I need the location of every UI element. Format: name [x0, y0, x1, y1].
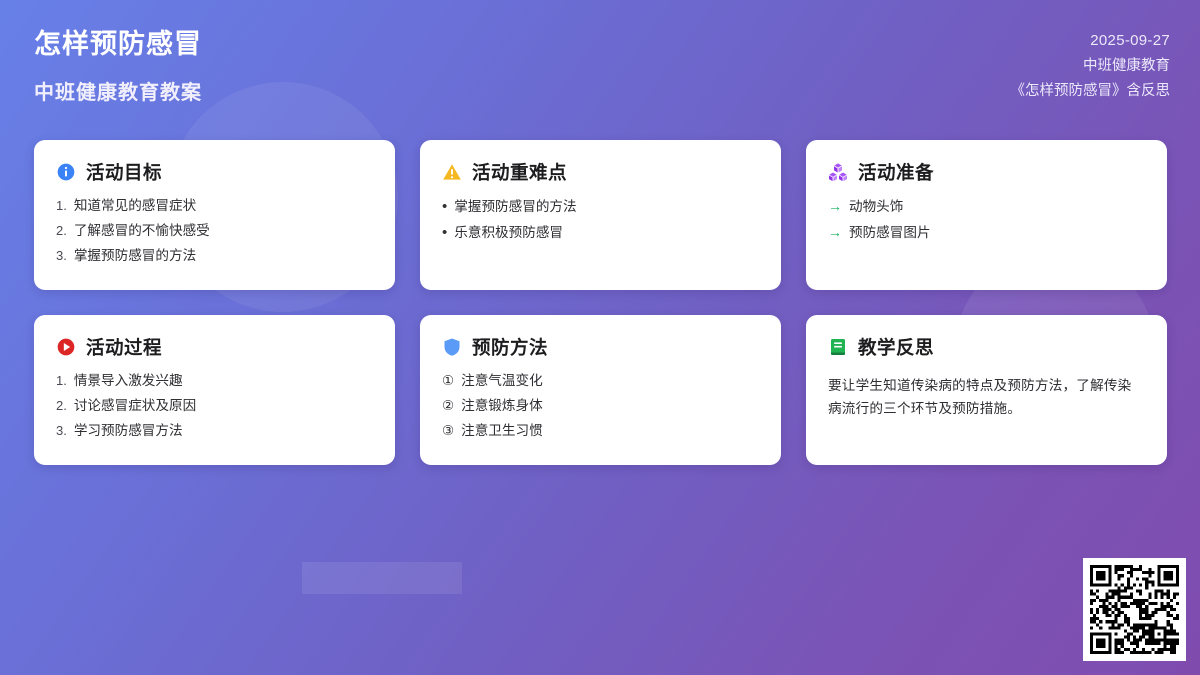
list-item-label: 掌握预防感冒的方法	[454, 200, 576, 215]
card-list: 1.知道常见的感冒症状2.了解感冒的不愉快感受3.掌握预防感冒的方法	[56, 199, 373, 264]
page-header: 怎样预防感冒 中班健康教育教案 2025-09-27 中班健康教育 《怎样预防感…	[0, 0, 1200, 125]
info-circle-icon	[56, 162, 76, 182]
list-item: ③注意卫生习惯	[442, 424, 759, 439]
list-item-label: 注意卫生习惯	[461, 424, 543, 439]
list-item-marker: 1.	[56, 374, 67, 388]
list-item-label: 情景导入激发兴趣	[74, 374, 183, 389]
list-item: •掌握预防感冒的方法	[442, 199, 759, 215]
card-title: 教学反思	[858, 334, 934, 360]
card-key-difficulties: 活动重难点•掌握预防感冒的方法•乐意积极预防感冒	[420, 140, 781, 290]
card-list: •掌握预防感冒的方法•乐意积极预防感冒	[442, 199, 759, 241]
card-header: 活动准备	[828, 159, 1145, 185]
list-item: 2.了解感冒的不愉快感受	[56, 224, 373, 239]
list-item: •乐意积极预防感冒	[442, 225, 759, 241]
cubes-icon	[828, 162, 848, 182]
card-list: ①注意气温变化②注意锻炼身体③注意卫生习惯	[442, 374, 759, 439]
card-header: 活动过程	[56, 334, 373, 360]
list-item-label: 注意气温变化	[461, 374, 543, 389]
header-meta-line-2: 《怎样预防感冒》含反思	[1011, 79, 1171, 104]
list-item: 3.掌握预防感冒的方法	[56, 249, 373, 264]
list-item: 2.讨论感冒症状及原因	[56, 399, 373, 414]
list-item-marker: 3.	[56, 249, 67, 263]
list-item-marker: →	[828, 199, 842, 214]
card-prevention-methods: 预防方法①注意气温变化②注意锻炼身体③注意卫生习惯	[420, 315, 781, 465]
card-header: 预防方法	[442, 334, 759, 360]
list-item-marker: •	[442, 199, 447, 214]
list-item-marker: •	[442, 225, 447, 240]
list-item-label: 动物头饰	[849, 200, 903, 215]
list-item-label: 学习预防感冒方法	[74, 424, 183, 439]
shield-icon	[442, 337, 462, 357]
list-item-label: 注意锻炼身体	[461, 399, 543, 414]
title-block: 怎样预防感冒 中班健康教育教案	[34, 28, 202, 105]
list-item: ①注意气温变化	[442, 374, 759, 389]
card-title: 活动目标	[86, 159, 162, 185]
list-item: 3.学习预防感冒方法	[56, 424, 373, 439]
list-item-marker: ③	[442, 424, 454, 439]
list-item: →预防感冒图片	[828, 225, 1145, 241]
list-item-label: 知道常见的感冒症状	[74, 199, 196, 214]
list-item-label: 乐意积极预防感冒	[454, 226, 563, 241]
decorative-rectangle-bottom	[302, 562, 462, 594]
card-objectives: 活动目标1.知道常见的感冒症状2.了解感冒的不愉快感受3.掌握预防感冒的方法	[34, 140, 395, 290]
card-title: 预防方法	[472, 334, 548, 360]
list-item: 1.情景导入激发兴趣	[56, 374, 373, 389]
card-reflection: 教学反思要让学生知道传染病的特点及预防方法，了解传染病流行的三个环节及预防措施。	[806, 315, 1167, 465]
card-list: 1.情景导入激发兴趣2.讨论感冒症状及原因3.学习预防感冒方法	[56, 374, 373, 439]
qr-code	[1090, 565, 1179, 654]
list-item-marker: ①	[442, 374, 454, 389]
list-item-marker: 3.	[56, 424, 67, 438]
list-item-label: 掌握预防感冒的方法	[74, 249, 196, 264]
list-item-label: 预防感冒图片	[849, 226, 931, 241]
card-header: 活动目标	[56, 159, 373, 185]
card-title: 活动过程	[86, 334, 162, 360]
list-item-marker: 1.	[56, 199, 67, 213]
card-title: 活动重难点	[472, 159, 567, 185]
list-item: 1.知道常见的感冒症状	[56, 199, 373, 214]
list-item: ②注意锻炼身体	[442, 399, 759, 414]
header-date: 2025-09-27	[1011, 28, 1171, 54]
page-title: 怎样预防感冒	[34, 28, 202, 62]
card-grid: 活动目标1.知道常见的感冒症状2.了解感冒的不愉快感受3.掌握预防感冒的方法活动…	[34, 140, 1168, 465]
list-item: →动物头饰	[828, 199, 1145, 215]
list-item-marker: →	[828, 225, 842, 240]
list-item-marker: 2.	[56, 399, 67, 413]
card-preparation: 活动准备→动物头饰→预防感冒图片	[806, 140, 1167, 290]
list-item-label: 了解感冒的不愉快感受	[74, 224, 210, 239]
warning-triangle-icon	[442, 162, 462, 182]
header-meta-line-1: 中班健康教育	[1011, 54, 1171, 79]
list-item-label: 讨论感冒症状及原因	[74, 399, 196, 414]
card-process: 活动过程1.情景导入激发兴趣2.讨论感冒症状及原因3.学习预防感冒方法	[34, 315, 395, 465]
card-paragraph: 要让学生知道传染病的特点及预防方法，了解传染病流行的三个环节及预防措施。	[828, 374, 1145, 421]
qr-code-container[interactable]	[1083, 558, 1186, 661]
list-item-marker: ②	[442, 399, 454, 414]
card-list: →动物头饰→预防感冒图片	[828, 199, 1145, 241]
list-item-marker: 2.	[56, 224, 67, 238]
play-circle-icon	[56, 337, 76, 357]
card-header: 教学反思	[828, 334, 1145, 360]
header-meta: 2025-09-27 中班健康教育 《怎样预防感冒》含反思	[1011, 28, 1171, 104]
card-title: 活动准备	[858, 159, 934, 185]
book-icon	[828, 337, 848, 357]
page-subtitle: 中班健康教育教案	[34, 76, 202, 105]
card-header: 活动重难点	[442, 159, 759, 185]
